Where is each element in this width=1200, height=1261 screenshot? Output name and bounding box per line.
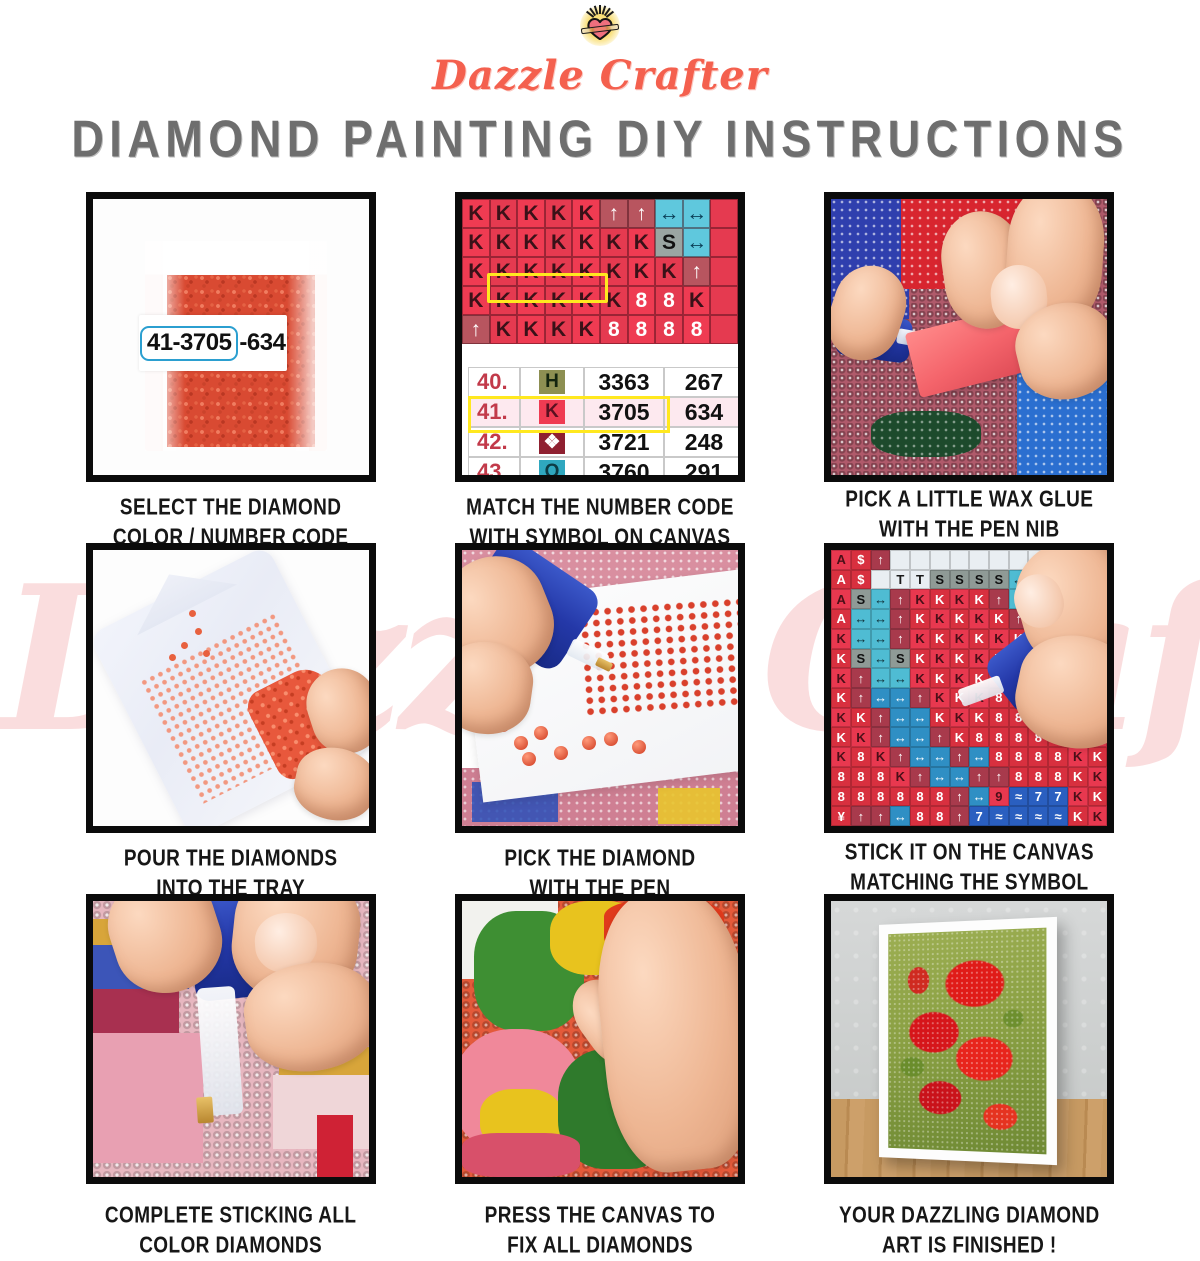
canvas-symbol-cell: K [950,727,970,747]
canvas-symbol-cell: ↔ [910,747,930,767]
bag-code-highlight: 41-3705 [140,326,239,361]
canvas-symbol-cell: 8 [989,727,1009,747]
canvas-symbol-cell [871,570,891,590]
canvas-symbol-cell: 8 [1028,747,1048,767]
bag-code-tail: -634 [239,329,285,357]
caption-line: POUR THE DIAMONDS [124,844,338,874]
canvas-symbol-cell: K [831,727,851,747]
step-card-6: A$↑↑A$TTSSSS↔↔SKAS↔↑KKKK↑↔↔↔KKA↔↔↑KKKKK↑… [799,543,1140,894]
canvas-symbol-cell: ↔ [871,609,891,629]
canvas-symbol-cell: 7 [1028,787,1048,807]
canvas-symbol-cell: 8 [831,787,851,807]
legend-symbol: Q [520,457,584,475]
canvas-symbol-cell: ↑ [930,727,950,747]
canvas-symbol-cell: S [890,649,910,669]
canvas-symbol-cell: S [851,589,871,609]
canvas-symbol-cell: ≈ [1009,787,1029,807]
canvas-symbol-cell: ↑ [890,589,910,609]
legend-row: 40.H3363267 [468,367,738,397]
legend-dmc-code: 3363 [584,367,664,397]
legend-symbol: K [520,397,584,427]
canvas-symbol-cell: K [890,767,910,787]
chart-cell: K [490,315,518,344]
canvas-symbol-cell: 8 [851,767,871,787]
canvas-symbol-cell: K [851,708,871,728]
step-caption-6: STICK IT ON THE CANVAS MATCHING THE SYMB… [845,838,1094,898]
canvas-symbol-cell: K [950,609,970,629]
legend-row: 43.Q3760291 [468,457,738,475]
canvas-symbol-cell: S [989,570,1009,590]
canvas-symbol-cell: K [1088,806,1108,826]
chart-cell: K [490,286,518,315]
chart-cell: K [545,257,573,286]
canvas-symbol-cell: ≈ [1009,806,1029,826]
header: Dazzle Crafter DIAMOND PAINTING DIY INST… [0,0,1200,160]
chart-cell: 8 [655,315,683,344]
canvas-symbol-cell: K [1088,747,1108,767]
poppy-painting [889,928,1047,1155]
canvas-symbol-cell: ↑ [989,589,1009,609]
canvas-symbol-cell: T [910,570,930,590]
step-card-7: COMPLETE STICKING ALL COLOR DIAMONDS [60,894,401,1251]
canvas-symbol-cell: 7 [969,806,989,826]
canvas-symbol-cell: ↔ [851,609,871,629]
step-caption-8: PRESS THE CANVAS TO FIX ALL DIAMONDS [485,1201,716,1261]
caption-line: SELECT THE DIAMOND [113,493,349,523]
step-card-5: PICK THE DIAMOND WITH THE PEN [429,543,770,894]
canvas-symbol-cell: K [989,609,1009,629]
canvas-symbol-cell: K [930,589,950,609]
chart-cell: K [545,315,573,344]
canvas-symbol-cell: ↔ [930,747,950,767]
canvas-symbol-cell: K [930,708,950,728]
canvas-symbol-cell: ↔ [890,688,910,708]
legend-symbol: ❖ [520,427,584,457]
step-card-3: PICK A LITTLE WAX GLUE WITH THE PEN NIB [799,192,1140,543]
canvas-symbol-cell: K [831,649,851,669]
chart-cell: K [517,286,545,315]
canvas-symbol-cell: 8 [851,747,871,767]
canvas-symbol-cell: K [969,708,989,728]
canvas-symbol-cell: $ [851,550,871,570]
canvas-symbol-cell: K [831,629,851,649]
chart-cell: ↔ [683,228,711,257]
step-card-9: YOUR DAZZLING DIAMOND ART IS FINISHED ! [799,894,1140,1251]
caption-line: WITH THE PEN NIB [845,515,1093,545]
canvas-symbol-cell [910,550,930,570]
canvas-symbol-cell: S [969,570,989,590]
chart-cell: 8 [683,315,711,344]
chart-cell: K [517,228,545,257]
canvas-symbol-cell: ¥ [831,806,851,826]
caption-line: PRESS THE CANVAS TO [485,1201,716,1231]
canvas-symbol-cell: 8 [910,806,930,826]
canvas-symbol-cell: K [1068,806,1088,826]
step-image-3 [824,192,1114,482]
canvas-symbol-cell: K [969,649,989,669]
canvas-symbol-cell: ↔ [950,767,970,787]
canvas-symbol-cell: ↑ [950,806,970,826]
legend-number: 41. [468,397,520,427]
chart-cell: 8 [628,315,656,344]
chart-cell: ↔ [655,199,683,228]
caption-line: ART IS FINISHED ! [839,1231,1100,1261]
step-image-8 [455,894,745,1184]
chart-cell: 8 [655,286,683,315]
caption-line: PICK THE DIAMOND [504,844,695,874]
canvas-symbol-cell: K [969,609,989,629]
canvas-symbol-cell: A [831,609,851,629]
canvas-symbol-cell: ↑ [890,747,910,767]
legend-number: 43. [468,457,520,475]
caption-line: FIX ALL DIAMONDS [485,1231,716,1261]
chart-cell: K [462,199,490,228]
chart-cell: K [462,228,490,257]
canvas-symbol-cell: ↔ [871,668,891,688]
caption-line: COMPLETE STICKING ALL [105,1201,357,1231]
legend-dmc-code: 3705 [584,397,664,427]
chart-cell: K [545,199,573,228]
canvas-symbol-cell: K [950,649,970,669]
canvas-symbol-cell: K [930,688,950,708]
chart-cell: K [600,228,628,257]
canvas-symbol-cell: ↑ [910,767,930,787]
step-image-1: 41-3705 -634 [86,192,376,482]
canvas-symbol-cell: ↑ [851,806,871,826]
canvas-symbol-cell: S [930,570,950,590]
canvas-symbol-cell: A [831,589,851,609]
canvas-symbol-cell: K [851,727,871,747]
canvas-symbol-cell: K [969,589,989,609]
canvas-symbol-cell: K [910,649,930,669]
canvas-symbol-cell [930,550,950,570]
canvas-symbol-cell: 8 [871,787,891,807]
canvas-symbol-cell: ↑ [851,668,871,688]
chart-cell: K [490,228,518,257]
canvas-symbol-cell: ↔ [969,787,989,807]
legend-dmc-code: 3721 [584,427,664,457]
canvas-symbol-cell: ↑ [871,806,891,826]
chart-cell: K [545,228,573,257]
canvas-symbol-cell: S [950,570,970,590]
framed-artwork [879,917,1057,1165]
chart-cell: K [490,257,518,286]
chart-cell: ↑ [462,315,490,344]
canvas-symbol-cell: S [851,649,871,669]
step-caption-3: PICK A LITTLE WAX GLUE WITH THE PEN NIB [845,485,1093,545]
step-image-2: KKKKK↑↑↔↔KKKKKKKS↔KKKKKKKK↑KKKKKK88K↑KKK… [455,192,745,482]
canvas-symbol-cell: ↔ [871,649,891,669]
chart-cell: ↔ [683,199,711,228]
canvas-symbol-cell: K [831,668,851,688]
canvas-symbol-cell: ↔ [851,629,871,649]
canvas-symbol-cell: K [1088,787,1108,807]
chart-cell: K [628,228,656,257]
chart-cell [710,228,738,257]
canvas-symbol-cell: 9 [989,787,1009,807]
chart-cell: K [600,286,628,315]
canvas-symbol-cell: K [950,589,970,609]
chart-cell: 8 [600,315,628,344]
symbol-chart-grid: KKKKK↑↑↔↔KKKKKKKS↔KKKKKKKK↑KKKKKK88K↑KKK… [462,199,738,367]
steps-grid: 41-3705 -634 SELECT THE DIAMOND COLOR / … [0,192,1200,1251]
chart-cell: ↑ [628,199,656,228]
legend-count: 267 [664,367,738,397]
chart-cell: ↑ [683,257,711,286]
step-caption-7: COMPLETE STICKING ALL COLOR DIAMONDS [105,1201,357,1261]
legend-number: 40. [468,367,520,397]
chart-cell [710,257,738,286]
legend-row: 41.K3705634 [468,397,738,427]
canvas-symbol-cell: ↑ [989,767,1009,787]
step-image-5 [455,543,745,833]
canvas-symbol-cell: ≈ [1028,806,1048,826]
canvas-symbol-cell: ↔ [871,589,891,609]
canvas-symbol-cell: ↔ [890,708,910,728]
chart-cell: K [462,286,490,315]
chart-cell: K [517,257,545,286]
step-caption-9: YOUR DAZZLING DIAMOND ART IS FINISHED ! [839,1201,1100,1261]
chart-cell: ↑ [600,199,628,228]
canvas-symbol-cell: ↑ [969,767,989,787]
canvas-symbol-cell: 8 [871,767,891,787]
canvas-symbol-cell: 8 [851,787,871,807]
canvas-symbol-cell: ↑ [950,787,970,807]
canvas-symbol-cell: ↑ [871,727,891,747]
canvas-symbol-cell: K [930,609,950,629]
canvas-symbol-cell: 8 [989,708,1009,728]
chart-cell: K [572,257,600,286]
canvas-symbol-cell: 8 [890,787,910,807]
canvas-symbol-cell [969,550,989,570]
chart-cell: K [517,315,545,344]
canvas-symbol-cell [989,550,1009,570]
legend-dmc-code: 3760 [584,457,664,475]
canvas-symbol-cell: ↑ [871,708,891,728]
canvas-symbol-cell: ↔ [890,727,910,747]
chart-cell: K [572,315,600,344]
caption-line: YOUR DAZZLING DIAMOND [839,1201,1100,1231]
canvas-symbol-cell: ↑ [851,688,871,708]
canvas-symbol-cell: K [969,629,989,649]
caption-line: COLOR DIAMONDS [105,1231,357,1261]
canvas-symbol-cell: 8 [989,747,1009,767]
chart-cell: K [572,199,600,228]
canvas-symbol-cell: ↑ [890,629,910,649]
canvas-symbol-cell: K [950,629,970,649]
chart-cell [710,286,738,315]
dmc-legend-table: 40.H336326741.K370563442.❖372124843.Q376… [468,367,738,475]
canvas-symbol-cell: 8 [1048,767,1068,787]
canvas-symbol-cell: ≈ [989,806,1009,826]
canvas-symbol-cell: ↑ [890,609,910,629]
canvas-symbol-cell: 8 [1009,727,1029,747]
canvas-symbol-cell: ↔ [969,747,989,767]
canvas-symbol-cell: ↔ [910,727,930,747]
canvas-symbol-cell: K [910,609,930,629]
canvas-symbol-cell: ↔ [871,629,891,649]
bag-label: 41-3705 -634 [139,315,287,371]
canvas-symbol-cell: K [871,747,891,767]
chart-cell [710,199,738,228]
step-image-6: A$↑↑A$TTSSSS↔↔SKAS↔↑KKKK↑↔↔↔KKA↔↔↑KKKKK↑… [824,543,1114,833]
brand-name: Dazzle Crafter [0,54,1200,98]
canvas-symbol-cell: K [831,747,851,767]
canvas-symbol-cell: K [831,688,851,708]
canvas-symbol-cell: K [910,668,930,688]
canvas-symbol-cell: $ [851,570,871,590]
step-card-1: 41-3705 -634 SELECT THE DIAMOND COLOR / … [60,192,401,543]
chart-cell: K [628,257,656,286]
chart-cell: K [572,286,600,315]
canvas-symbol-cell: K [1068,787,1088,807]
step-card-4: POUR THE DIAMONDS INTO THE TRAY [60,543,401,894]
chart-cell: K [683,286,711,315]
canvas-symbol-cell: K [910,589,930,609]
legend-count: 291 [664,457,738,475]
page-title: DIAMOND PAINTING DIY INSTRUCTIONS [0,110,1200,168]
step-card-2: KKKKK↑↑↔↔KKKKKKKS↔KKKKKKKK↑KKKKKK88K↑KKK… [429,192,770,543]
chart-cell: K [462,257,490,286]
chart-cell: 8 [628,286,656,315]
canvas-symbol-cell: K [930,649,950,669]
canvas-symbol-cell: A [831,570,851,590]
canvas-symbol-cell: ↑ [910,688,930,708]
canvas-symbol-cell: 8 [1048,747,1068,767]
chart-cell: K [517,199,545,228]
legend-count: 634 [664,397,738,427]
chart-cell: S [655,228,683,257]
canvas-symbol-cell: ↔ [890,806,910,826]
canvas-symbol-cell: ↑ [871,550,891,570]
canvas-symbol-cell: K [910,629,930,649]
caption-line: STICK IT ON THE CANVAS [845,838,1094,868]
canvas-symbol-cell: 8 [1009,767,1029,787]
step-image-7 [86,894,376,1184]
canvas-symbol-cell [950,550,970,570]
chart-cell: K [545,286,573,315]
canvas-symbol-cell: ↔ [890,668,910,688]
legend-number: 42. [468,427,520,457]
chart-cell: K [490,199,518,228]
canvas-symbol-cell: 8 [1028,767,1048,787]
heart-with-pen-sunburst-icon [571,4,629,56]
canvas-symbol-cell: ≈ [1048,806,1068,826]
canvas-symbol-cell: 8 [910,787,930,807]
canvas-symbol-cell: A [831,550,851,570]
canvas-symbol-cell: 8 [930,787,950,807]
chart-cell: K [600,257,628,286]
chart-cell: K [655,257,683,286]
caption-line: PICK A LITTLE WAX GLUE [845,485,1093,515]
step-image-4 [86,543,376,833]
canvas-symbol-cell: 8 [831,767,851,787]
canvas-symbol-cell [890,550,910,570]
step-card-8: PRESS THE CANVAS TO FIX ALL DIAMONDS [429,894,770,1251]
caption-line: MATCH THE NUMBER CODE [466,493,734,523]
canvas-symbol-cell: K [930,668,950,688]
legend-symbol: H [520,367,584,397]
canvas-symbol-cell: 7 [1048,787,1068,807]
canvas-symbol-cell: K [1068,767,1088,787]
canvas-symbol-cell: 8 [969,727,989,747]
step-image-9 [824,894,1114,1184]
canvas-symbol-cell: K [950,708,970,728]
legend-row: 42.❖3721248 [468,427,738,457]
chart-cell [710,315,738,344]
canvas-symbol-cell: 8 [930,806,950,826]
canvas-symbol-cell: K [930,629,950,649]
canvas-symbol-cell: K [1088,767,1108,787]
canvas-symbol-cell: 8 [1009,747,1029,767]
legend-count: 248 [664,427,738,457]
canvas-symbol-cell: ↔ [930,767,950,787]
canvas-symbol-cell: ↔ [910,708,930,728]
canvas-symbol-cell: ↔ [871,688,891,708]
canvas-symbol-cell: K [831,708,851,728]
chart-cell: K [572,228,600,257]
canvas-symbol-cell: T [890,570,910,590]
canvas-symbol-cell: ↑ [950,747,970,767]
canvas-symbol-cell: K [1068,747,1088,767]
canvas-symbol-cell: K [950,668,970,688]
